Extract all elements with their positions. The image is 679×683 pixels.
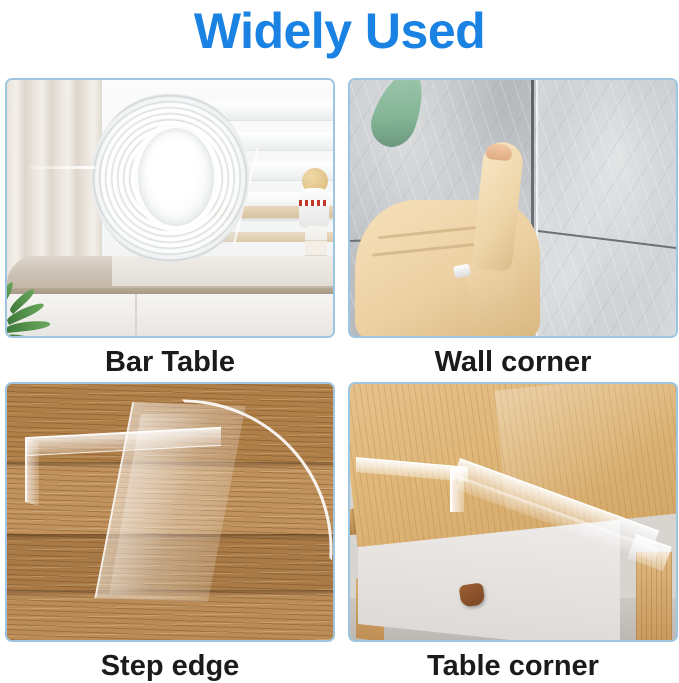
- astronaut-figurine-stripe: [299, 200, 329, 206]
- panel-image-frame-bar-table: [5, 78, 335, 338]
- astronaut-figurine-body: [299, 188, 329, 228]
- bottle-label: [305, 240, 327, 256]
- panel-image-frame-table-corner: [348, 382, 678, 642]
- infographic-page: Widely Used: [0, 0, 679, 683]
- nano-tape-roll: [91, 94, 249, 262]
- panel-caption-table-corner: Table corner: [348, 651, 678, 683]
- potted-plant: [7, 286, 75, 336]
- usage-panel-grid: Bar Table: [0, 70, 679, 683]
- tape-core-hole: [138, 128, 214, 226]
- tape-free-end: [29, 166, 95, 169]
- edge-guard-lip: [25, 438, 39, 507]
- panel-caption-step-edge: Step edge: [5, 651, 335, 683]
- scene-step-edge: [7, 384, 333, 640]
- cabinet-seam: [135, 294, 137, 336]
- usage-panel-table-corner: Table corner: [348, 382, 678, 683]
- page-title: Widely Used: [0, 0, 679, 62]
- usage-panel-step-edge: Step edge: [5, 382, 335, 683]
- panel-image-frame-step-edge: [5, 382, 335, 642]
- panel-caption-bar-table: Bar Table: [5, 347, 335, 379]
- plant-leaf: [7, 332, 44, 336]
- scene-table-corner: [350, 384, 676, 640]
- usage-panel-bar-table: Bar Table: [5, 78, 335, 379]
- scene-wall-corner: [350, 80, 676, 336]
- usage-panel-wall-corner: Wall corner: [348, 78, 678, 379]
- panel-caption-wall-corner: Wall corner: [348, 347, 678, 379]
- panel-image-frame-wall-corner: [348, 78, 678, 338]
- scene-bar-table: [7, 80, 333, 336]
